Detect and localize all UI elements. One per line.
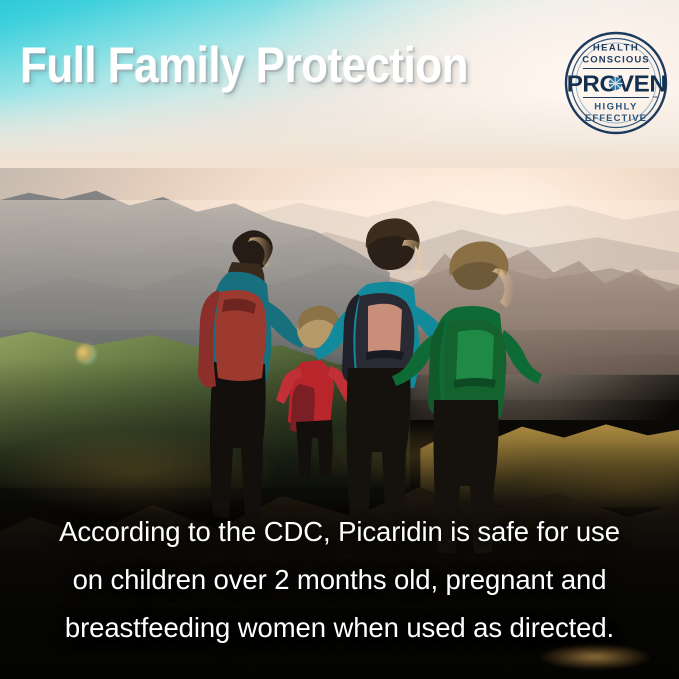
caption-line-3: breastfeeding women when used as directe… <box>0 604 679 652</box>
proven-badge: HEALTH CONSCIOUS PROVEN HIGHLY EFFECTIVE… <box>563 30 669 136</box>
badge-top-line2: CONSCIOUS <box>582 55 649 66</box>
mosquito-icon <box>608 76 622 90</box>
advertisement-card: Full Family Protection HEALTH CONSCIOUS … <box>0 0 679 679</box>
trademark-symbol: ™ <box>652 96 658 102</box>
badge-bottom-line1: HIGHLY <box>594 102 637 113</box>
caption-block: According to the CDC, Picaridin is safe … <box>0 508 679 652</box>
badge-bottom-line2: EFFECTIVE <box>585 113 647 124</box>
page-title: Full Family Protection <box>20 39 468 91</box>
badge-top-line1: HEALTH <box>593 43 639 54</box>
caption-line-2: on children over 2 months old, pregnant … <box>0 556 679 604</box>
caption-line-1: According to the CDC, Picaridin is safe … <box>0 508 679 556</box>
